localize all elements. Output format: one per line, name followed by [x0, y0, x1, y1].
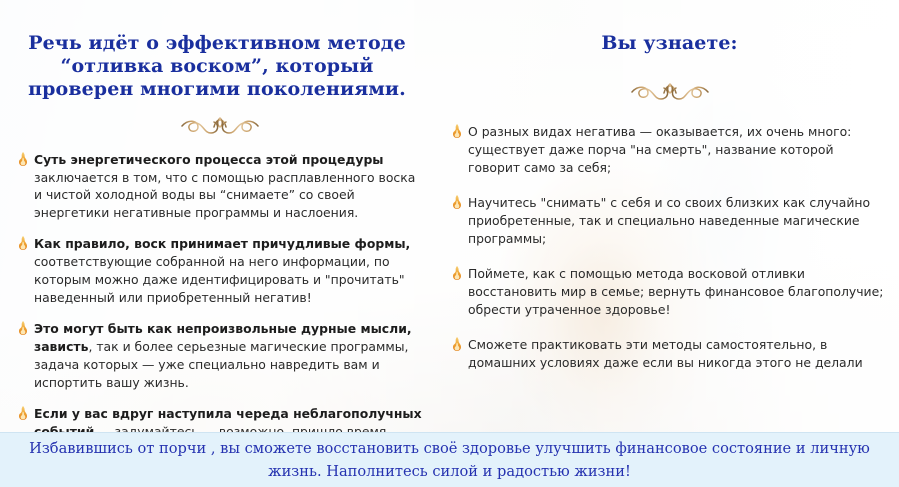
list-item: Научитесь "снимать" с себя и со своих бл…: [450, 194, 885, 248]
right-bullet-list: О разных видах негатива — оказывается, и…: [440, 123, 899, 372]
flame-icon: [16, 405, 30, 421]
list-item-bold-lead: Как правило, воск принимает причудливые …: [34, 236, 410, 251]
flame-icon: [16, 235, 30, 251]
list-item: Это могут быть как непроизвольные дурные…: [16, 320, 426, 392]
list-item: Поймете, как с помощью метода восковой о…: [450, 265, 885, 319]
bottom-banner: Избавившись от порчи , вы сможете восста…: [0, 432, 899, 487]
list-item: Сможете практиковать эти методы самостоя…: [450, 336, 885, 372]
flame-icon: [16, 320, 30, 336]
list-item-text: Сможете практиковать эти методы самостоя…: [468, 337, 863, 370]
gold-flourish-divider-icon: [142, 115, 298, 135]
left-column: Речь идёт о эффективном методе “отливка …: [0, 0, 440, 487]
page-content: Речь идёт о эффективном методе “отливка …: [0, 0, 899, 487]
list-item-bold-lead: Суть энергетического процесса этой проце…: [34, 152, 384, 167]
bottom-banner-text: Избавившись от порчи , вы сможете восста…: [0, 438, 899, 483]
flame-icon: [16, 151, 30, 167]
promo-page: Речь идёт о эффективном методе “отливка …: [0, 0, 899, 487]
list-item-text: О разных видах негатива — оказывается, и…: [468, 124, 851, 175]
gold-flourish-divider-icon: [592, 81, 748, 101]
flame-icon: [450, 265, 464, 281]
list-item-text: заключается в том, что с помощью расплав…: [34, 170, 415, 221]
list-item: Как правило, воск принимает причудливые …: [16, 235, 426, 307]
right-column: Вы узнаете:: [440, 0, 899, 385]
left-column-heading: Речь идёт о эффективном методе “отливка …: [0, 0, 440, 102]
left-bullet-list: Суть энергетического процесса этой проце…: [0, 151, 440, 478]
flame-icon: [450, 194, 464, 210]
list-item-text: Научитесь "снимать" с себя и со своих бл…: [468, 195, 870, 246]
list-item-text: Поймете, как с помощью метода восковой о…: [468, 266, 883, 317]
right-column-heading: Вы узнаете:: [440, 0, 899, 55]
flame-icon: [450, 123, 464, 139]
list-item: О разных видах негатива — оказывается, и…: [450, 123, 885, 177]
flame-icon: [450, 336, 464, 352]
list-item: Суть энергетического процесса этой проце…: [16, 151, 426, 223]
list-item-text: , так и более серьезные магические прогр…: [34, 339, 408, 390]
list-item-text: соответствующие собранной на него информ…: [34, 254, 405, 305]
